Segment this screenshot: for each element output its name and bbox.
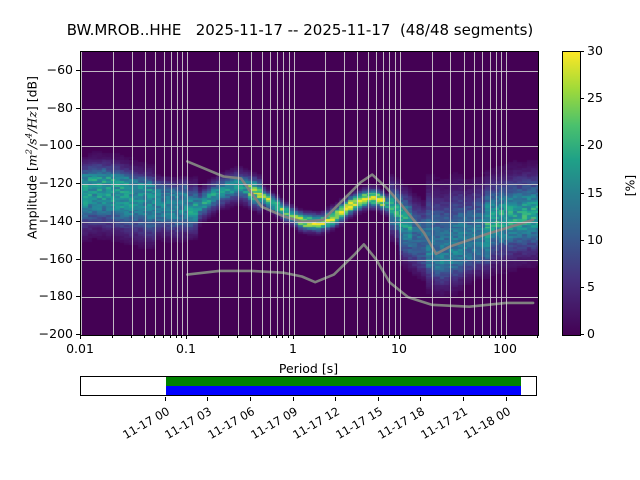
x-tick-mark-minor [463, 335, 464, 338]
colorbar-tick-label: 25 [587, 90, 603, 105]
x-tick-mark-major [80, 335, 81, 339]
grid-line-vertical [368, 52, 369, 335]
colorbar-tick-mark [580, 334, 584, 335]
grid-line-vertical [482, 52, 483, 335]
grid-line-vertical [145, 52, 146, 335]
grid-line-horizontal [81, 146, 538, 147]
x-tick-mark-major [293, 335, 294, 339]
x-tick-mark-minor [495, 335, 496, 338]
grid-line-horizontal [81, 260, 538, 261]
x-axis-label: Period [s] [80, 361, 537, 376]
y-axis-label-s: /s [25, 138, 40, 149]
colorbar-tick-mark [580, 98, 584, 99]
y-axis-label-suffix: ] [dB] [25, 76, 40, 111]
x-tick-mark-minor [181, 335, 182, 338]
x-tick-mark-major [505, 335, 506, 339]
colorbar-tick-mark [580, 51, 584, 52]
timeline-tick-mark [165, 397, 166, 401]
colorbar-tick-label: 15 [587, 185, 603, 200]
x-tick-mark-major [186, 335, 187, 339]
ppsd-plot-area [81, 52, 538, 335]
grid-line-vertical [155, 52, 156, 335]
coverage-bar-blue [166, 386, 521, 395]
colorbar-tick-label: 20 [587, 137, 603, 152]
x-tick-mark-minor [288, 335, 289, 338]
colorbar-tick-label: 30 [587, 43, 603, 58]
grid-line-vertical [383, 52, 384, 335]
grid-line-vertical [294, 52, 295, 335]
grid-line-vertical [490, 52, 491, 335]
grid-line-vertical [464, 52, 465, 335]
colorbar-tick-label: 5 [587, 279, 595, 294]
y-tick-mark [76, 108, 80, 109]
noise-model-curves [81, 52, 538, 335]
x-tick-mark-minor [500, 335, 501, 338]
grid-line-vertical [113, 52, 114, 335]
y-axis-label-m: m [25, 154, 40, 166]
colorbar [562, 51, 581, 336]
colorbar-tick-mark [580, 287, 584, 288]
x-tick-mark-minor [237, 335, 238, 338]
grid-line-vertical [450, 52, 451, 335]
colorbar-tick-label: 10 [587, 232, 603, 247]
x-tick-mark-minor [276, 335, 277, 338]
x-tick-mark-minor [163, 335, 164, 338]
x-tick-mark-minor [382, 335, 383, 338]
grid-line-horizontal [81, 71, 538, 72]
x-tick-mark-minor [176, 335, 177, 338]
x-tick-mark-minor [154, 335, 155, 338]
grid-line-vertical [270, 52, 271, 335]
timeline-tick-mark [378, 397, 379, 401]
x-tick-mark-minor [250, 335, 251, 338]
grid-line-vertical [81, 52, 82, 335]
x-tick-label: 0.1 [156, 341, 216, 356]
grid-line-horizontal [81, 222, 538, 223]
grid-line-horizontal [81, 184, 538, 185]
time-coverage-strip[interactable] [80, 376, 537, 396]
grid-line-vertical [474, 52, 475, 335]
x-tick-label: 100 [475, 341, 535, 356]
grid-line-horizontal [81, 297, 538, 298]
grid-line-vertical [277, 52, 278, 335]
timeline-tick-mark [463, 397, 464, 401]
x-tick-mark-minor [324, 335, 325, 338]
x-tick-mark-minor [449, 335, 450, 338]
y-tick-mark [76, 259, 80, 260]
grid-line-vertical [238, 52, 239, 335]
colorbar-tick-mark [580, 240, 584, 241]
grid-line-vertical [171, 52, 172, 335]
grid-line-vertical [325, 52, 326, 335]
y-tick-label: −200 [0, 326, 73, 341]
grid-line-vertical [219, 52, 220, 335]
y-tick-mark [76, 70, 80, 71]
x-tick-mark-minor [473, 335, 474, 338]
x-tick-mark-major [399, 335, 400, 339]
grid-line-vertical [177, 52, 178, 335]
grid-line-vertical [432, 52, 433, 335]
grid-line-vertical [496, 52, 497, 335]
x-tick-mark-minor [343, 335, 344, 338]
grid-line-vertical [344, 52, 345, 335]
x-tick-mark-minor [431, 335, 432, 338]
timeline-tick-mark [207, 397, 208, 401]
x-tick-mark-minor [218, 335, 219, 338]
grid-line-vertical [501, 52, 502, 335]
x-tick-mark-minor [375, 335, 376, 338]
coverage-bar-green [166, 377, 521, 386]
timeline-tick-mark [250, 397, 251, 401]
grid-line-vertical [164, 52, 165, 335]
x-tick-label: 0.01 [50, 341, 110, 356]
grid-line-vertical [389, 52, 390, 335]
y-tick-mark [76, 145, 80, 146]
grid-line-vertical [357, 52, 358, 335]
x-tick-mark-minor [489, 335, 490, 338]
grid-line-vertical [262, 52, 263, 335]
y-axis-label-prefix: Amplitude [ [25, 166, 40, 239]
y-axis-label-hz: /Hz [25, 111, 40, 133]
x-tick-mark-minor [282, 335, 283, 338]
plot-title: BW.MROB..HHE 2025-11-17 -- 2025-11-17 (4… [0, 21, 600, 39]
grid-line-vertical [289, 52, 290, 335]
colorbar-tick-mark [580, 193, 584, 194]
y-axis-label: Amplitude [m2/s4/Hz] [dB] [24, 8, 39, 308]
x-tick-mark-minor [388, 335, 389, 338]
grid-line-vertical [506, 52, 507, 335]
ppsd-axes [80, 51, 539, 336]
grid-line-vertical [283, 52, 284, 335]
grid-line-vertical [187, 52, 188, 335]
y-tick-mark [76, 221, 80, 222]
grid-line-vertical [400, 52, 401, 335]
timeline-tick-mark [335, 397, 336, 401]
grid-line-vertical [251, 52, 252, 335]
x-tick-mark-minor [170, 335, 171, 338]
grid-line-vertical [132, 52, 133, 335]
timeline-tick-mark [506, 397, 507, 401]
x-tick-mark-minor [131, 335, 132, 338]
x-tick-label: 10 [369, 341, 429, 356]
x-tick-mark-minor [537, 335, 538, 338]
x-tick-mark-minor [261, 335, 262, 338]
colorbar-label: [%] [623, 156, 638, 216]
y-tick-mark [76, 296, 80, 297]
timeline-tick-mark [420, 397, 421, 401]
timeline-tick-mark [293, 397, 294, 401]
y-tick-mark [76, 183, 80, 184]
grid-line-vertical [395, 52, 396, 335]
colorbar-tick-mark [580, 145, 584, 146]
colorbar-tick-label: 0 [587, 326, 595, 341]
x-tick-mark-minor [144, 335, 145, 338]
y-axis-label-exp2: 2 [24, 149, 34, 154]
x-tick-mark-minor [394, 335, 395, 338]
grid-line-vertical [376, 52, 377, 335]
grid-line-horizontal [81, 109, 538, 110]
x-tick-mark-minor [367, 335, 368, 338]
y-axis-label-exp4: 4 [24, 133, 34, 138]
x-tick-label: 1 [263, 341, 323, 356]
x-tick-mark-minor [481, 335, 482, 338]
x-tick-mark-minor [269, 335, 270, 338]
grid-line-vertical [182, 52, 183, 335]
x-tick-mark-minor [112, 335, 113, 338]
x-tick-mark-minor [356, 335, 357, 338]
ppsd-figure: BW.MROB..HHE 2025-11-17 -- 2025-11-17 (4… [0, 0, 640, 480]
